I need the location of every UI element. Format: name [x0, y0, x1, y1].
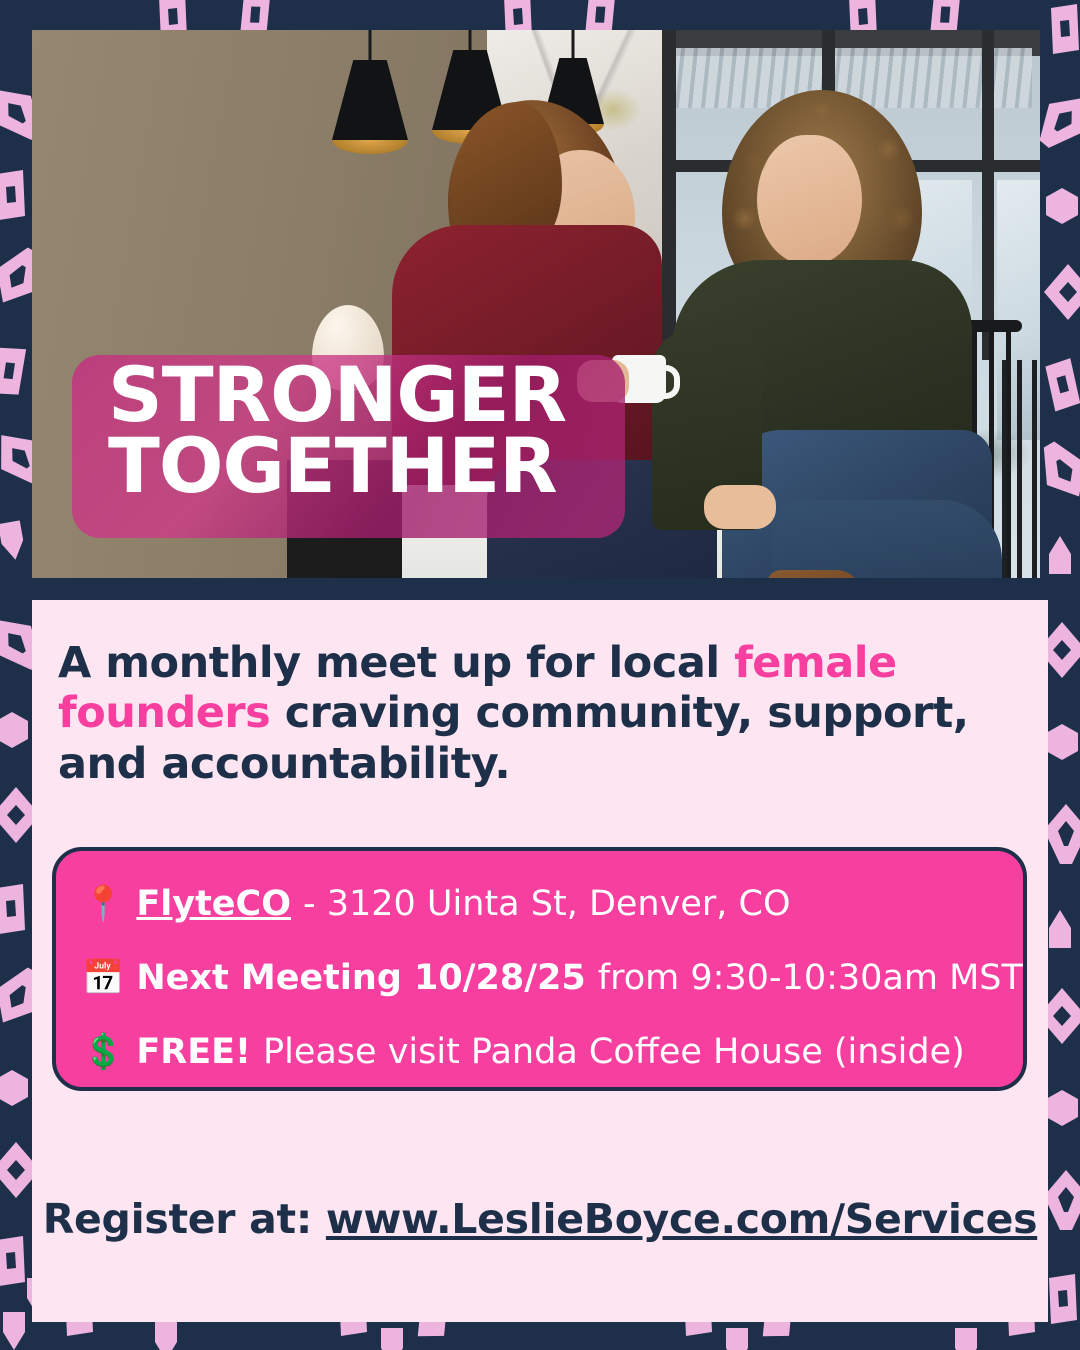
event-details-box: 📍 FlyteCO - 3120 Uinta St, Denver, CO 📅 … [52, 847, 1027, 1091]
photo-woman-two-hand [704, 485, 776, 529]
detail-row-date: 📅 Next Meeting 10/28/25 from 9:30-10:30a… [82, 947, 1012, 1009]
detail-row-location: 📍 FlyteCO - 3120 Uinta St, Denver, CO [82, 873, 1012, 935]
venue-link[interactable]: FlyteCO [136, 884, 291, 924]
dollar-sign-icon: 💲 [82, 1035, 124, 1069]
title-line-2: TOGETHER [108, 431, 708, 502]
price-note: Please visit Panda Coffee House (inside) [263, 1032, 965, 1072]
register-line: Register at: www.LeslieBoyce.com/Service… [32, 1195, 1048, 1243]
calendar-icon: 📅 [82, 961, 124, 995]
next-meeting-date: Next Meeting 10/28/25 [136, 958, 585, 998]
page-title: STRONGER TOGETHER [108, 360, 708, 501]
price-badge: FREE! [136, 1032, 251, 1072]
photo-window-mullion [982, 30, 994, 360]
meeting-time: from 9:30-10:30am MST [598, 958, 1023, 998]
location-pin-icon: 📍 [82, 887, 124, 921]
headline-part-1: A monthly meet up for local [58, 638, 734, 688]
register-url-link[interactable]: www.LeslieBoyce.com/Services [326, 1195, 1037, 1243]
register-label: Register at: [43, 1195, 326, 1243]
headline: A monthly meet up for local female found… [58, 638, 1028, 789]
photo-woman-two-jeans-lower [772, 500, 1002, 578]
content-card: A monthly meet up for local female found… [32, 600, 1048, 1322]
venue-address: - 3120 Uinta St, Denver, CO [303, 884, 791, 924]
pendant-lamp-icon [332, 60, 408, 154]
detail-row-price: 💲 FREE! Please visit Panda Coffee House … [82, 1021, 1012, 1083]
